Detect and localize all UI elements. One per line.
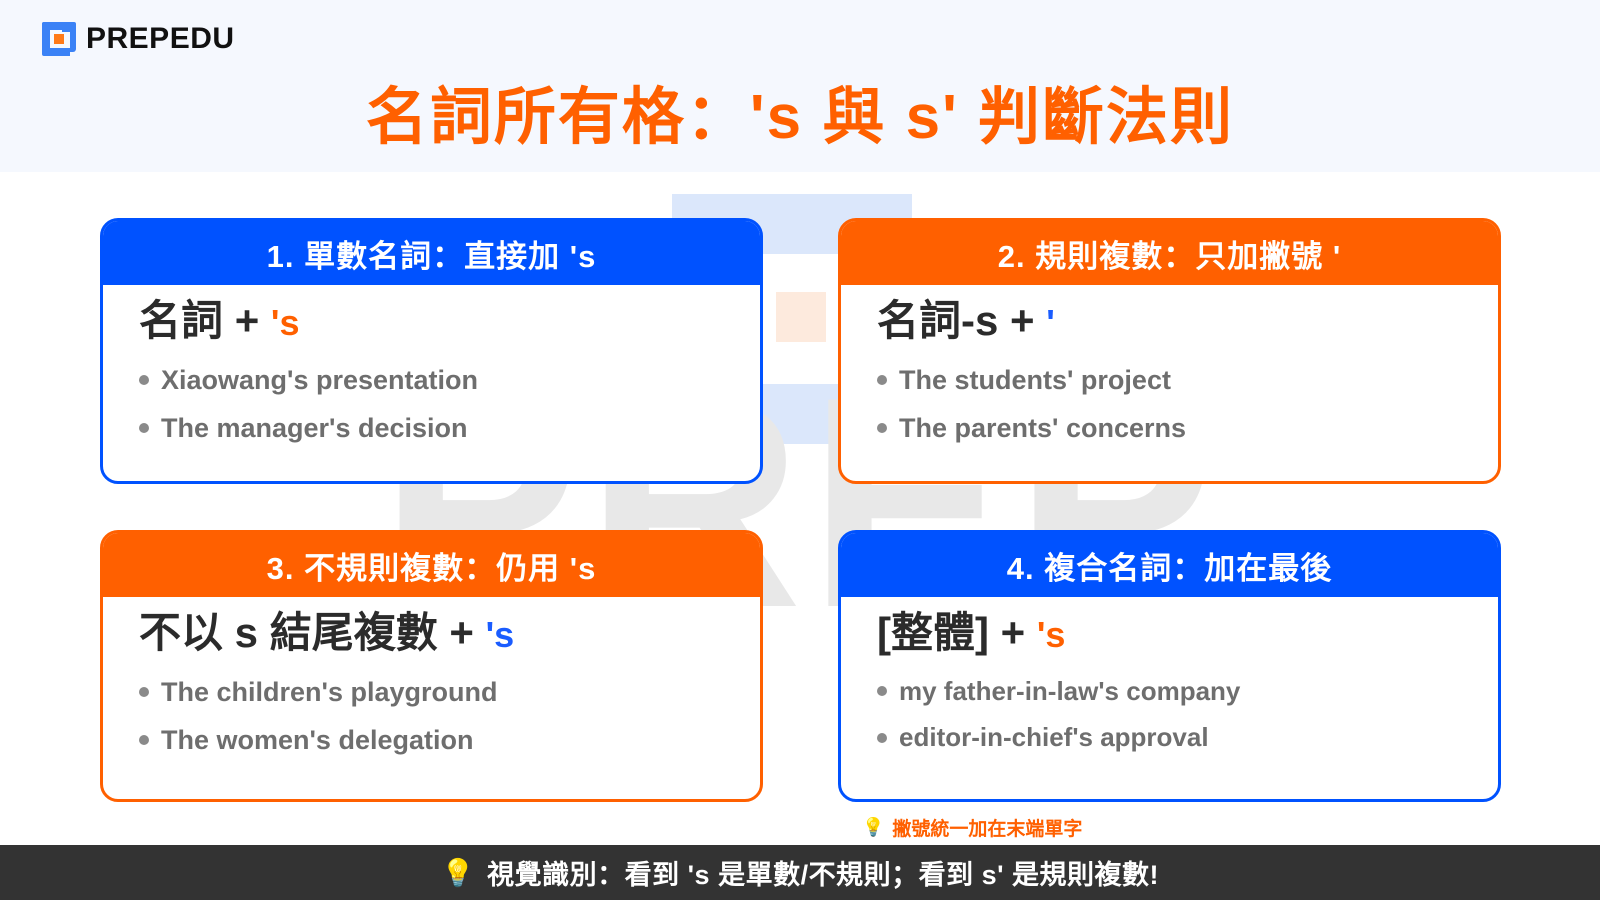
formula-base: 不以 s 結尾複數 (139, 609, 438, 656)
list-item: The children's playground (139, 668, 730, 717)
example-text: The children's playground (161, 668, 497, 717)
example-list: The children's playground The women's de… (139, 668, 730, 765)
example-list: The students' project The parents' conce… (877, 356, 1468, 453)
list-item: my father-in-law's company (877, 668, 1468, 715)
list-item: The women's delegation (139, 716, 730, 765)
lightbulb-icon: 💡 (862, 817, 884, 838)
list-item: The manager's decision (139, 404, 730, 453)
bullet-icon (877, 686, 887, 696)
rule-card-compound-noun: 4. 複合名詞：加在最後 [整體] + 's my father-in-law'… (838, 530, 1501, 802)
rule-card-heading: 2. 規則複數：只加撇號 ' (841, 221, 1498, 285)
rule-card-body: 名詞 + 's Xiaowang's presentation The mana… (103, 285, 760, 453)
brand-logo: PREPEDU (42, 22, 235, 56)
formula-base: 名詞-s (877, 297, 998, 344)
bullet-icon (877, 733, 887, 743)
rule-card-body: 不以 s 結尾複數 + 's The children's playground… (103, 597, 760, 765)
formula-base: [整體] (877, 609, 989, 656)
rule-card-heading: 4. 複合名詞：加在最後 (841, 533, 1498, 597)
compound-noun-note: 💡 撇號統一加在末端單字 (862, 814, 1082, 841)
rule-formula: 名詞-s + ' (877, 295, 1468, 348)
example-text: The parents' concerns (899, 404, 1186, 453)
note-text: 撇號統一加在末端單字 (892, 814, 1082, 841)
rule-card-body: 名詞-s + ' The students' project The paren… (841, 285, 1498, 453)
list-item: The parents' concerns (877, 404, 1468, 453)
rule-card-body: [整體] + 's my father-in-law's company edi… (841, 597, 1498, 761)
bullet-icon (139, 687, 149, 697)
bullet-icon (877, 423, 887, 433)
example-text: Xiaowang's presentation (161, 356, 478, 405)
bullet-icon (139, 735, 149, 745)
rule-formula: 名詞 + 's (139, 295, 730, 348)
prepedu-logo-mark-icon (42, 22, 76, 56)
rule-card-irregular-plural: 3. 不規則複數：仍用 's 不以 s 結尾複數 + 's The childr… (100, 530, 763, 802)
rule-card-singular: 1. 單數名詞：直接加 's 名詞 + 's Xiaowang's presen… (100, 218, 763, 484)
rule-card-regular-plural: 2. 規則複數：只加撇號 ' 名詞-s + ' The students' pr… (838, 218, 1501, 484)
example-text: The students' project (899, 356, 1171, 405)
bullet-icon (139, 375, 149, 385)
footer-bar: 💡 視覺識別：看到 's 是單數/不規則；看到 s' 是規則複數! (0, 845, 1600, 900)
formula-plus: + (1010, 297, 1035, 344)
example-text: my father-in-law's company (899, 668, 1240, 715)
bullet-icon (139, 423, 149, 433)
formula-plus: + (1001, 609, 1026, 656)
formula-mark: 's (1037, 614, 1066, 655)
example-text: editor-in-chief's approval (899, 714, 1209, 761)
formula-mark: 's (271, 302, 300, 343)
formula-plus: + (235, 297, 260, 344)
example-text: The women's delegation (161, 716, 473, 765)
lightbulb-icon: 💡 (441, 857, 475, 889)
example-list: Xiaowang's presentation The manager's de… (139, 356, 730, 453)
list-item: editor-in-chief's approval (877, 714, 1468, 761)
formula-mark: ' (1046, 302, 1055, 343)
example-text: The manager's decision (161, 404, 468, 453)
rules-grid: 1. 單數名詞：直接加 's 名詞 + 's Xiaowang's presen… (0, 172, 1600, 862)
rule-card-heading: 1. 單數名詞：直接加 's (103, 221, 760, 285)
top-banner: PREPEDU 名詞所有格：'s 與 s' 判斷法則 (0, 0, 1600, 172)
example-list: my father-in-law's company editor-in-chi… (877, 668, 1468, 762)
formula-base: 名詞 (139, 297, 223, 344)
rule-formula: [整體] + 's (877, 607, 1468, 660)
list-item: Xiaowang's presentation (139, 356, 730, 405)
formula-mark: 's (486, 614, 515, 655)
page-title: 名詞所有格：'s 與 s' 判斷法則 (0, 66, 1600, 156)
bullet-icon (877, 375, 887, 385)
rule-formula: 不以 s 結尾複數 + 's (139, 607, 730, 660)
footer-text: 視覺識別：看到 's 是單數/不規則；看到 s' 是規則複數! (487, 853, 1159, 892)
rule-card-heading: 3. 不規則複數：仍用 's (103, 533, 760, 597)
brand-name: PREPEDU (86, 22, 235, 56)
list-item: The students' project (877, 356, 1468, 405)
formula-plus: + (449, 609, 474, 656)
